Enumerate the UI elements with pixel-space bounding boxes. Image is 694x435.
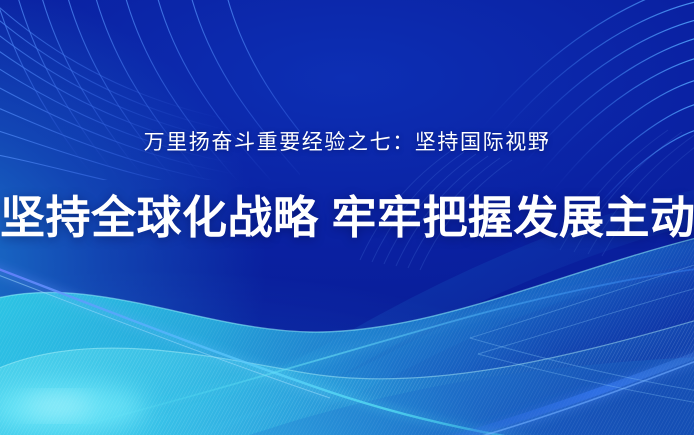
- promo-banner: 万里扬奋斗重要经验之七：坚持国际视野 坚持全球化战略 牢牢把握发展主动权: [0, 0, 694, 435]
- banner-main-title: 坚持全球化战略 牢牢把握发展主动权: [0, 190, 694, 246]
- banner-subtitle: 万里扬奋斗重要经验之七：坚持国际视野: [0, 130, 694, 156]
